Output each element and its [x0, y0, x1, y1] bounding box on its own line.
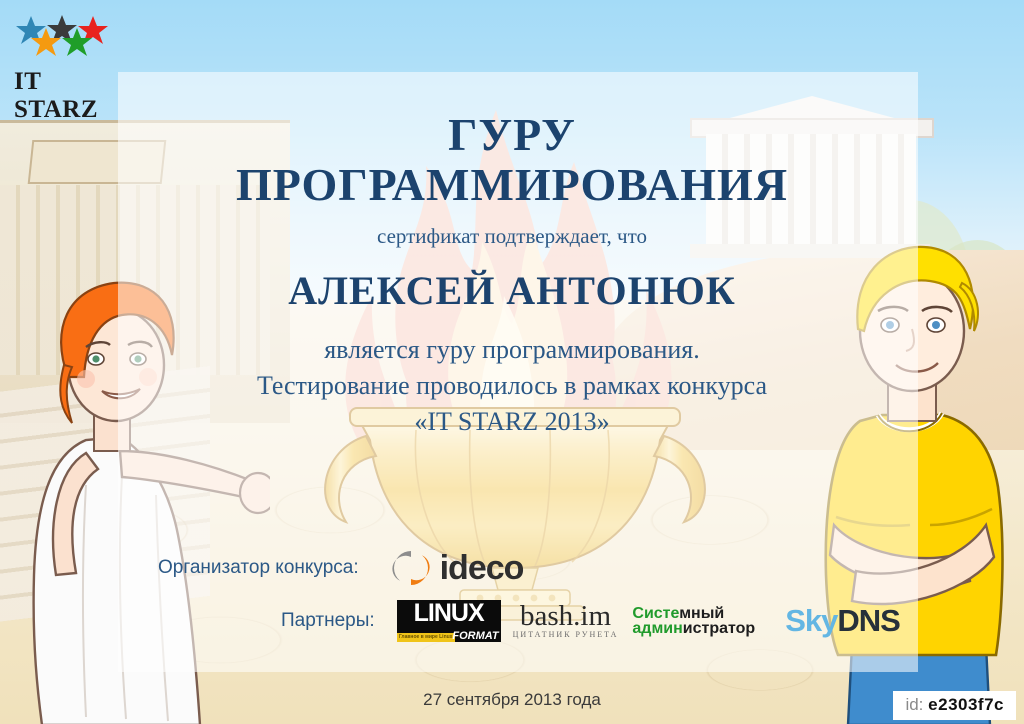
- organizer-label: Организатор конкурса:: [158, 557, 359, 579]
- ideco-swirl-icon: [391, 548, 431, 588]
- certificate-content: ГУРУ ПРОГРАММИРОВАНИЯ сертификат подтвер…: [0, 0, 1024, 724]
- sysadmin-word2: администратор: [632, 621, 755, 636]
- certificate-body-line1: является гуру программирования.: [0, 335, 1024, 365]
- linux-format-secondary: FORMAT: [452, 630, 498, 642]
- linux-format-logo[interactable]: LINUX Главное в мире Linux FORMAT: [397, 600, 501, 642]
- certificate-body-line2: Тестирование проводилось в рамках конкур…: [0, 371, 1024, 401]
- id-badge: id: e2303f7c: [893, 691, 1016, 720]
- certificate-title-line2: ПРОГРАММИРОВАНИЯ: [0, 158, 1024, 211]
- skydns-secondary: DNS: [837, 603, 899, 638]
- certificate-title-line1: ГУРУ: [0, 108, 1024, 161]
- ideco-logo[interactable]: ideco: [391, 548, 524, 588]
- certificate-subtitle: сертификат подтверждает, что: [0, 224, 1024, 249]
- certificate-date: 27 сентября 2013 года: [0, 690, 1024, 710]
- ideco-wordmark: ideco: [440, 549, 524, 588]
- linux-format-primary: LINUX: [397, 600, 501, 626]
- sysadmin-word1: Системный: [632, 606, 755, 621]
- skydns-primary: Sky: [785, 603, 837, 638]
- skydns-logo[interactable]: SkyDNS: [785, 603, 900, 639]
- bash-im-logo[interactable]: bash.im ЦИТАТНИК РУНЕТА: [513, 602, 619, 640]
- sysadmin-word2-rest: истратор: [683, 620, 755, 637]
- id-badge-label: id:: [905, 695, 923, 714]
- partners-label: Партнеры:: [281, 610, 375, 632]
- sysadmin-logo[interactable]: Системный администратор: [632, 606, 755, 636]
- certificate-canvas: IT STARZ ГУРУ ПРОГРАММИРОВАНИЯ сертифика…: [0, 0, 1024, 724]
- partners-row: Партнеры: LINUX Главное в мире Linux FOR…: [0, 600, 1024, 642]
- linux-format-tagline: Главное в мире Linux: [397, 633, 455, 642]
- organizer-row: Организатор конкурса: ideco: [0, 548, 1024, 588]
- sysadmin-word2-accent: админ: [632, 620, 682, 637]
- bash-im-tagline: ЦИТАТНИК РУНЕТА: [513, 630, 619, 640]
- bash-im-primary: bash.im: [513, 602, 619, 630]
- id-badge-value: e2303f7c: [928, 695, 1004, 714]
- certificate-body-line3: «IT STARZ 2013»: [0, 407, 1024, 437]
- recipient-name: АЛЕКСЕЙ АНТОНЮК: [0, 267, 1024, 314]
